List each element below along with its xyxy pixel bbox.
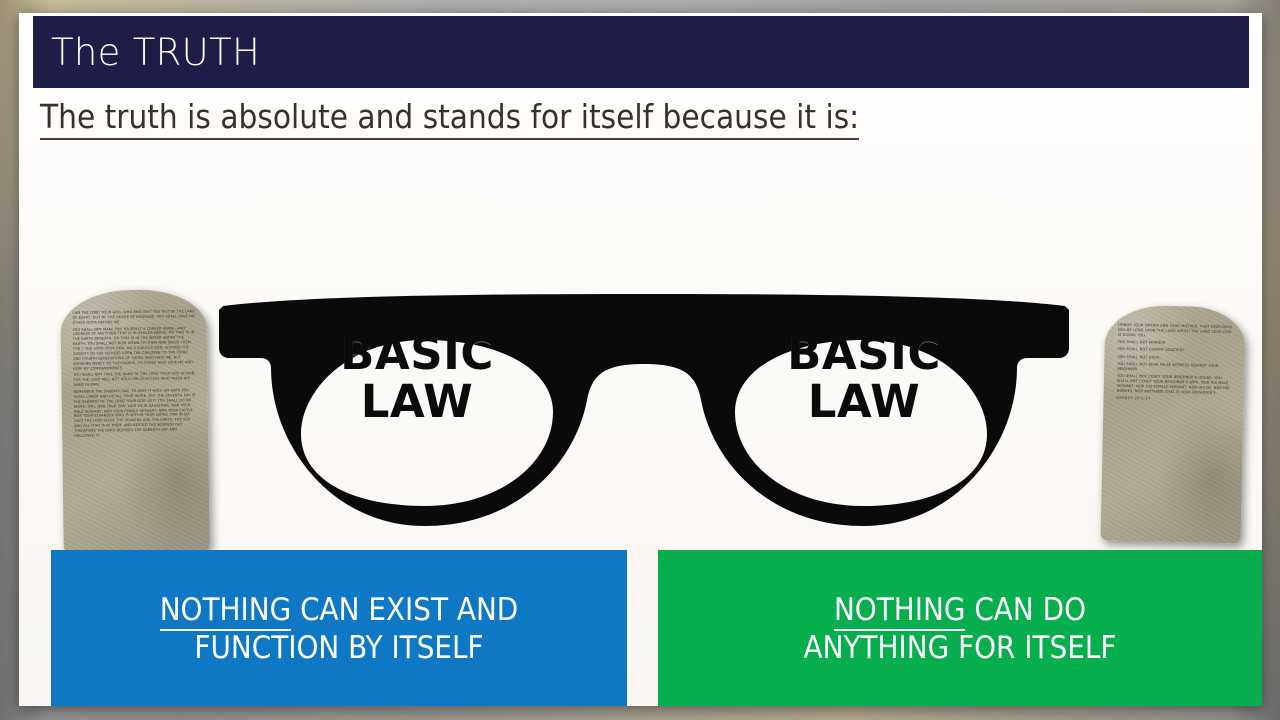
lens-label-left: BASIC LAW bbox=[282, 330, 552, 425]
stone-tablet-right: Honor your father and your mother, that … bbox=[1101, 305, 1246, 544]
subtitle: The truth is absolute and stands for its… bbox=[40, 97, 859, 136]
commandment-text: Honor your father and your mother, that … bbox=[1118, 323, 1233, 341]
callout-right-line2: ANYTHING FOR ITSELF bbox=[804, 630, 1117, 666]
slide: The TRUTH The truth is absolute and stan… bbox=[0, 0, 1280, 720]
stone-tablet-left: I am the Lord your God, who brought you … bbox=[60, 289, 210, 553]
lens-label-right: BASIC LAW bbox=[729, 330, 999, 425]
page-title: The TRUTH bbox=[51, 31, 260, 74]
callout-right-text: NOTHING CAN DO ANYTHING FOR ITSELF bbox=[804, 591, 1117, 668]
lens-label-left-line2: LAW bbox=[282, 378, 552, 426]
slide-canvas: The TRUTH The truth is absolute and stan… bbox=[19, 13, 1262, 706]
subtitle-text: The truth is absolute and stands for its… bbox=[40, 97, 859, 140]
lens-label-right-line2: LAW bbox=[729, 378, 999, 426]
commandment-text: Remember the Sabbath day, to keep it hol… bbox=[74, 388, 198, 439]
tablet-right-commandments: Honor your father and your mother, that … bbox=[1103, 305, 1245, 414]
tablet-left-commandments: I am the Lord your God, who brought you … bbox=[60, 289, 208, 449]
commandment-text: I am the Lord your God, who brought you … bbox=[72, 309, 195, 325]
callout-left-text: NOTHING CAN EXIST AND FUNCTION BY ITSELF bbox=[160, 591, 519, 668]
callout-box-left: NOTHING CAN EXIST AND FUNCTION BY ITSELF bbox=[51, 550, 627, 706]
callout-right-rest: CAN DO bbox=[965, 592, 1086, 628]
commandment-text: You shall not covet your neighbor's hous… bbox=[1117, 374, 1232, 397]
scripture-reference: Exodus 20:1-17 bbox=[1116, 396, 1231, 404]
lens-label-right-line1: BASIC bbox=[729, 330, 999, 378]
commandment-text: You shall not murder. bbox=[1118, 340, 1233, 348]
commandment-text: You shall not commit adultery. bbox=[1117, 347, 1232, 355]
callout-left-rest: CAN EXIST AND bbox=[291, 592, 518, 628]
commandment-text: You shall not steal. bbox=[1117, 354, 1232, 362]
title-bar: The TRUTH bbox=[33, 16, 1249, 88]
commandment-text: You shall not take the name of the Lord … bbox=[73, 372, 196, 388]
callout-left-line2: FUNCTION BY ITSELF bbox=[194, 630, 483, 666]
callout-box-right: NOTHING CAN DO ANYTHING FOR ITSELF bbox=[658, 550, 1262, 706]
callout-right-emphasis: NOTHING bbox=[834, 592, 966, 631]
commandment-text: You shall not bear false witness against… bbox=[1117, 361, 1232, 374]
callout-left-emphasis: NOTHING bbox=[160, 592, 292, 631]
lens-label-left-line1: BASIC bbox=[282, 330, 552, 378]
commandment-text: You shall not make for yourself a carved… bbox=[73, 326, 197, 372]
